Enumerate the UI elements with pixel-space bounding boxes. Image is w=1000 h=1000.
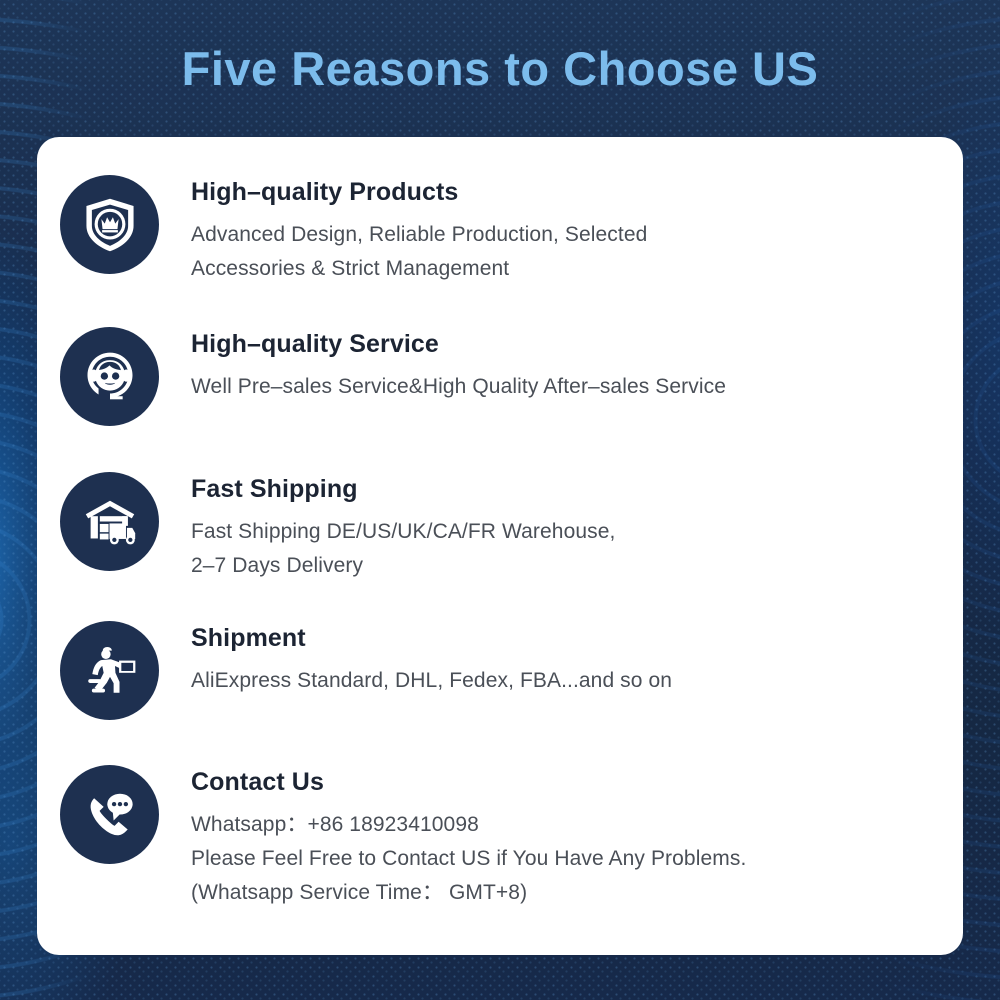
list-item-text: Fast Shipping Fast Shipping DE/US/UK/CA/… bbox=[191, 472, 615, 583]
desc-line: Advanced Design, Reliable Production, Se… bbox=[191, 218, 647, 252]
desc-line: Accessories & Strict Management bbox=[191, 252, 647, 286]
delivery-courier-icon bbox=[60, 621, 159, 720]
list-item-desc: Well Pre–sales Service&High Quality Afte… bbox=[191, 370, 726, 404]
list-item: High–quality Service Well Pre–sales Serv… bbox=[60, 327, 726, 426]
list-item-desc: Fast Shipping DE/US/UK/CA/FR Warehouse, … bbox=[191, 515, 615, 583]
desc-line: Well Pre–sales Service&High Quality Afte… bbox=[191, 370, 726, 404]
list-item: Contact Us Whatsapp：+86 18923410098 Plea… bbox=[60, 765, 746, 910]
list-item-desc: Advanced Design, Reliable Production, Se… bbox=[191, 218, 647, 286]
shield-crown-icon bbox=[60, 175, 159, 274]
phone-chat-icon bbox=[60, 765, 159, 864]
list-item-desc: AliExpress Standard, DHL, Fedex, FBA...a… bbox=[191, 664, 672, 698]
warehouse-truck-icon bbox=[60, 472, 159, 571]
desc-line: (Whatsapp Service Time： GMT+8) bbox=[191, 876, 746, 910]
list-item-text: Shipment AliExpress Standard, DHL, Fedex… bbox=[191, 621, 672, 698]
desc-line: Please Feel Free to Contact US if You Ha… bbox=[191, 842, 746, 876]
list-item-title: High–quality Service bbox=[191, 330, 726, 359]
list-item-title: Shipment bbox=[191, 624, 672, 653]
headset-support-icon bbox=[60, 327, 159, 426]
list-item-text: Contact Us Whatsapp：+86 18923410098 Plea… bbox=[191, 765, 746, 910]
desc-line: AliExpress Standard, DHL, Fedex, FBA...a… bbox=[191, 664, 672, 698]
desc-line: 2–7 Days Delivery bbox=[191, 549, 615, 583]
whatsapp-number: Whatsapp：+86 18923410098 bbox=[191, 808, 746, 842]
desc-line: Fast Shipping DE/US/UK/CA/FR Warehouse, bbox=[191, 515, 615, 549]
list-item-text: High–quality Service Well Pre–sales Serv… bbox=[191, 327, 726, 404]
list-item-title: Fast Shipping bbox=[191, 475, 615, 504]
list-item-desc: Whatsapp：+86 18923410098 Please Feel Fre… bbox=[191, 808, 746, 910]
page-title: Five Reasons to Choose US bbox=[0, 41, 1000, 96]
list-item-title: Contact Us bbox=[191, 768, 746, 797]
promo-banner: Five Reasons to Choose US High–quality P… bbox=[0, 0, 1000, 1000]
list-item: High–quality Products Advanced Design, R… bbox=[60, 175, 647, 286]
list-item: Fast Shipping Fast Shipping DE/US/UK/CA/… bbox=[60, 472, 615, 583]
list-item: Shipment AliExpress Standard, DHL, Fedex… bbox=[60, 621, 672, 720]
list-item-text: High–quality Products Advanced Design, R… bbox=[191, 175, 647, 286]
reasons-card: High–quality Products Advanced Design, R… bbox=[37, 137, 963, 955]
list-item-title: High–quality Products bbox=[191, 178, 647, 207]
